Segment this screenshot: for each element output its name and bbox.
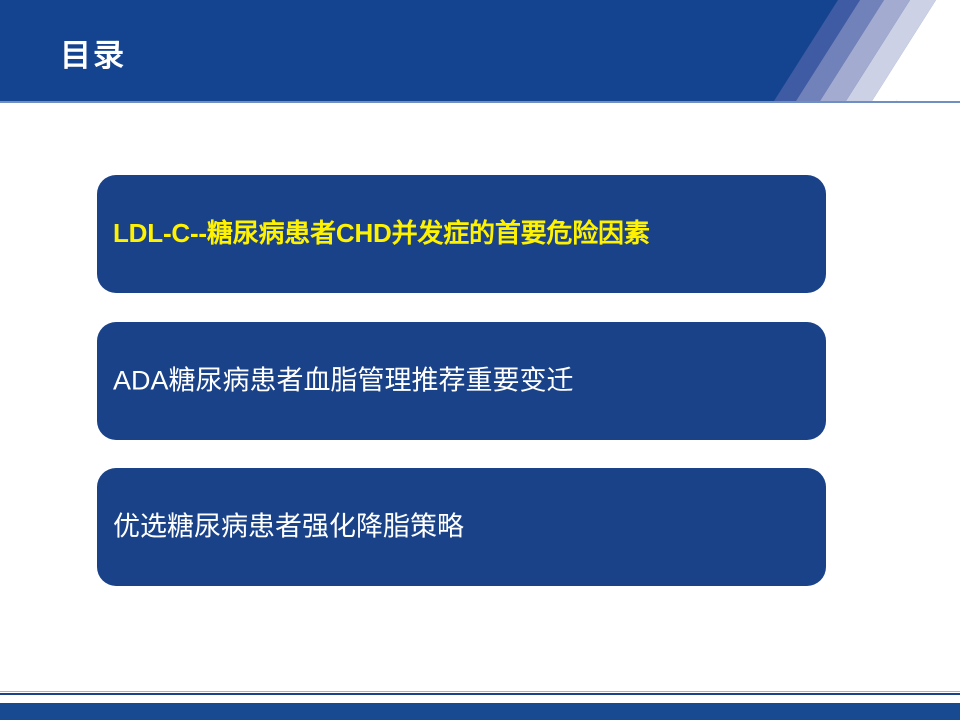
agenda-list: LDL-C--糖尿病患者CHD并发症的首要危险因素 ADA糖尿病患者血脂管理推荐… [0, 0, 960, 720]
footer-hairline [0, 691, 960, 692]
slide-canvas: 目录 LDL-C--糖尿病患者CHD并发症的首要危险因素 ADA糖尿病患者血脂管… [0, 0, 960, 720]
agenda-item-2[interactable]: ADA糖尿病患者血脂管理推荐重要变迁 [97, 322, 826, 440]
agenda-item-2-label: ADA糖尿病患者血脂管理推荐重要变迁 [113, 365, 810, 396]
agenda-item-3[interactable]: 优选糖尿病患者强化降脂策略 [97, 468, 826, 586]
agenda-item-1[interactable]: LDL-C--糖尿病患者CHD并发症的首要危险因素 [97, 175, 826, 293]
footer-rule [0, 693, 960, 695]
agenda-item-1-label: LDL-C--糖尿病患者CHD并发症的首要危险因素 [113, 219, 810, 249]
agenda-item-3-label: 优选糖尿病患者强化降脂策略 [113, 511, 810, 542]
footer-bar [0, 703, 960, 720]
